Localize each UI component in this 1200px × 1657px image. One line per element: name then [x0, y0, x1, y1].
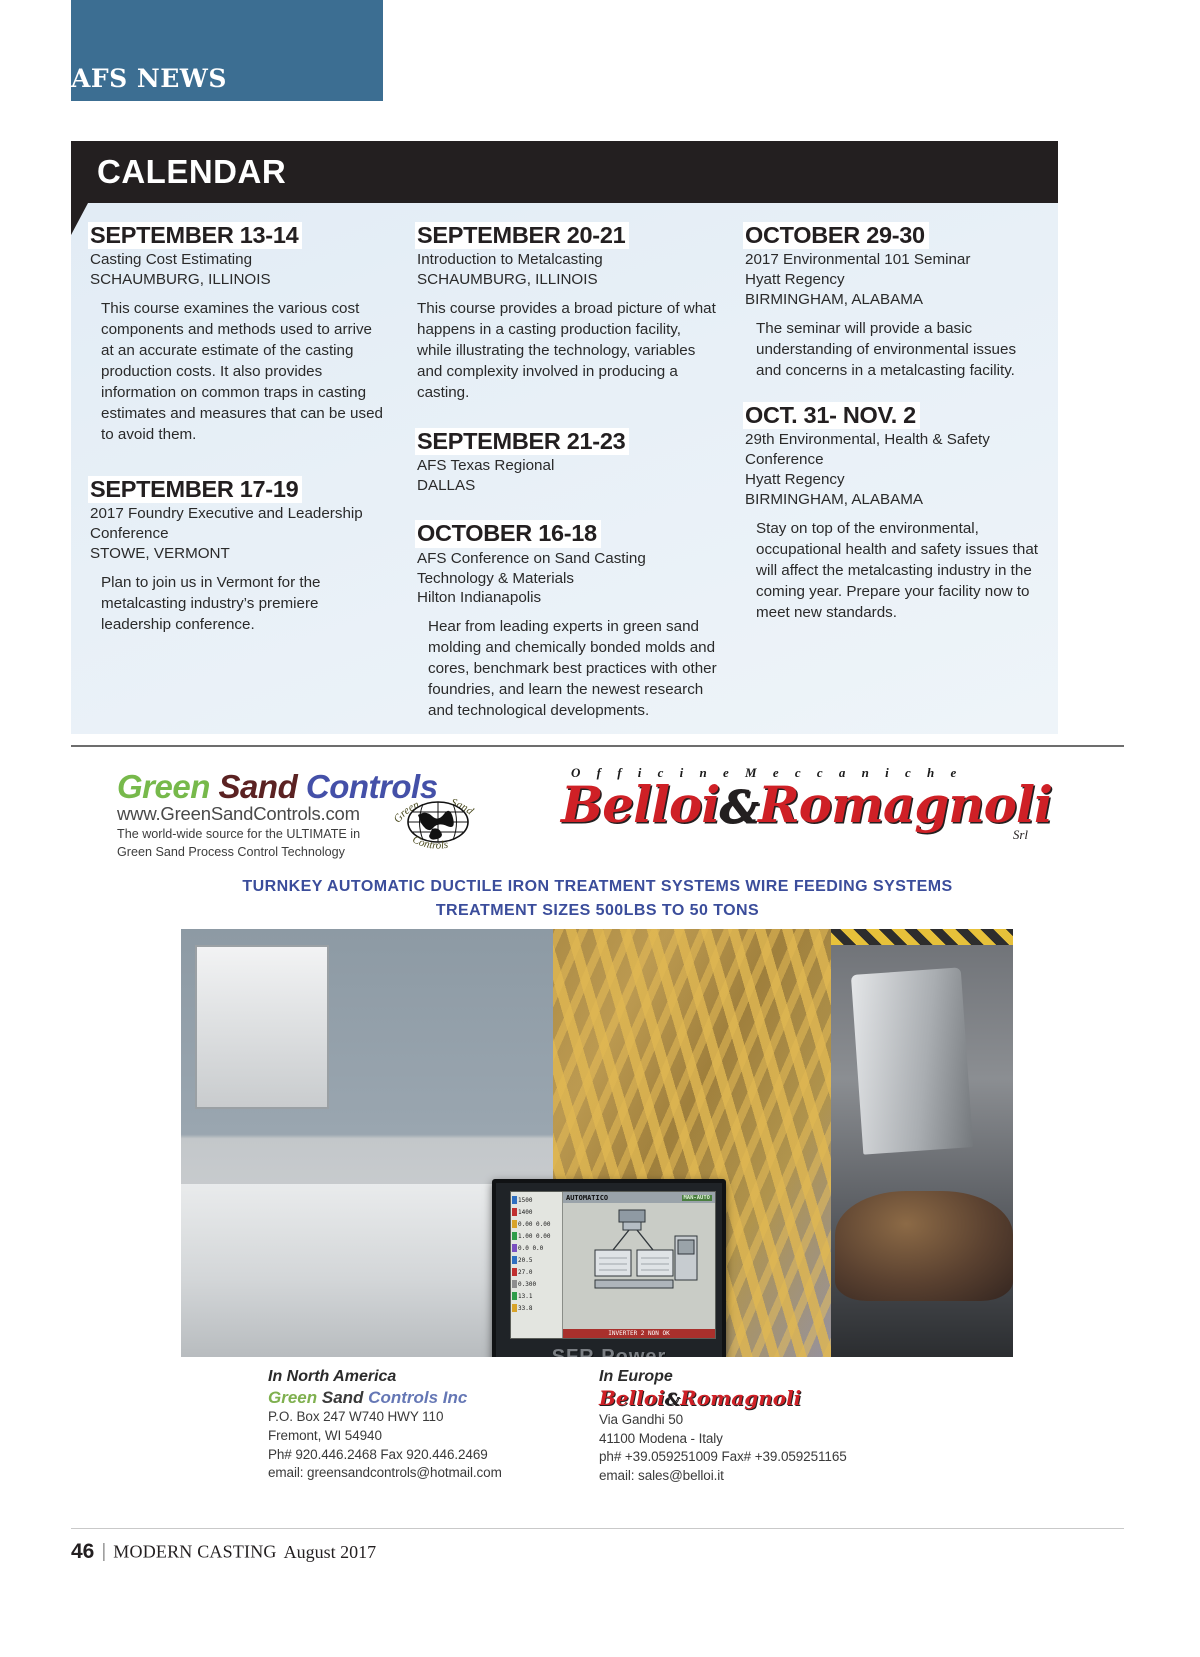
entry-name: 2017 Environmental 101 Seminar: [743, 250, 1044, 270]
br-ampersand: &: [719, 782, 758, 833]
entry-description: The seminar will provide a basic underst…: [743, 319, 1044, 382]
entry-description: Hear from leading experts in green sand …: [415, 617, 717, 722]
issue-date: August 2017: [284, 1542, 377, 1562]
entry-location: DALLAS: [415, 476, 717, 496]
masthead-label: AFS NEWS: [71, 66, 227, 91]
magazine-name: MODERN CASTING: [113, 1542, 276, 1562]
entry-location: Hilton Indianapolis: [415, 588, 717, 608]
contact-region-label: In North America: [268, 1367, 598, 1386]
contact-company-word2: Sand: [322, 1388, 364, 1407]
hmi-process-diagram: [567, 1206, 707, 1302]
contact-region-label: In Europe: [599, 1367, 959, 1386]
belloi-romagnoli-logo: O f f i c i n e M e c c a n i c h e Bell…: [561, 765, 1036, 843]
hmi-readout: 1400: [518, 1209, 532, 1216]
calendar-entry: SEPTEMBER 13-14 Casting Cost Estimating …: [88, 222, 387, 446]
contact-address-1: Via Gandhi 50: [599, 1411, 959, 1430]
contact-company-name: Belloi&Romagnoli: [599, 1387, 959, 1410]
entry-date: SEPTEMBER 21-23: [415, 428, 629, 455]
entry-date: SEPTEMBER 17-19: [88, 476, 302, 503]
entry-name: 29th Environmental, Health & Safety Conf…: [743, 430, 1044, 470]
advertisement: Green Sand Controls www.GreenSandControl…: [71, 747, 1124, 1507]
hmi-readout: 0.0 0.0: [518, 1245, 543, 1252]
calendar-entry: SEPTEMBER 17-19 2017 Foundry Executive a…: [88, 476, 387, 636]
contact-phone: Ph# 920.446.2468 Fax 920.446.2469: [268, 1446, 598, 1465]
contact-address-2: Fremont, WI 54940: [268, 1427, 598, 1446]
entry-date: SEPTEMBER 13-14: [88, 222, 302, 249]
contact-company-belloi: Belloi: [599, 1386, 665, 1410]
hmi-readout: 1.00 0.00: [518, 1233, 551, 1240]
contact-company-ampersand: &: [665, 1390, 680, 1410]
magazine-page: AFS NEWS CALENDAR SEPTEMBER 13-14 Castin…: [0, 0, 1200, 1657]
hmi-graphic-column: AUTOMATICO MAN-AUTO: [563, 1192, 715, 1338]
calendar-entry: SEPTEMBER 20-21 Introduction to Metalcas…: [415, 222, 717, 404]
entry-name: AFS Texas Regional: [415, 456, 717, 476]
hmi-screen: 1500 1400 0.00 0.00 1.00 0.00 0.0 0.0 20…: [510, 1191, 716, 1339]
calendar-column-3: OCTOBER 29-30 2017 Environmental 101 Sem…: [731, 203, 1058, 734]
hmi-readout: 20.5: [518, 1257, 532, 1264]
entry-venue: Hyatt Regency: [743, 270, 1044, 290]
contact-company-word3: Controls Inc: [368, 1388, 467, 1407]
ad-headline: TURNKEY AUTOMATIC DUCTILE IRON TREATMENT…: [71, 875, 1124, 924]
hmi-readout: 1500: [518, 1197, 532, 1204]
contact-company-word1: Green: [268, 1388, 317, 1407]
hazard-stripe: [831, 929, 1013, 945]
entry-name: Casting Cost Estimating: [88, 250, 387, 270]
hmi-readout: 13.1: [518, 1293, 532, 1300]
calendar-title: CALENDAR: [97, 153, 286, 191]
entry-location: BIRMINGHAM, ALABAMA: [743, 290, 1044, 310]
hmi-panel: 1500 1400 0.00 0.00 1.00 0.00 0.0 0.0 20…: [492, 1179, 726, 1357]
ad-headline-line2: TREATMENT SIZES 500LBS TO 50 TONS: [71, 899, 1124, 923]
hmi-status-message: INVERTER 2 NON OK: [563, 1329, 715, 1338]
gsc-word-green: Green: [117, 768, 210, 805]
entry-location: BIRMINGHAM, ALABAMA: [743, 490, 1044, 510]
entry-name: 2017 Foundry Executive and Leadership Co…: [88, 504, 387, 544]
contact-email[interactable]: email: greensandcontrols@hotmail.com: [268, 1464, 598, 1483]
contact-europe: In Europe Belloi&Romagnoli Via Gandhi 50…: [599, 1367, 959, 1485]
contact-company-romagnoli: Romagnoli: [680, 1386, 801, 1410]
contact-north-america: In North America Green Sand Controls Inc…: [268, 1367, 598, 1483]
photo-ladle-treatment: [831, 929, 1013, 1357]
entry-location: SCHAUMBURG, ILLINOIS: [415, 270, 717, 290]
contact-address-2: 41100 Modena - Italy: [599, 1430, 959, 1449]
contact-phone: ph# +39.059251009 Fax# +39.059251165: [599, 1448, 959, 1467]
calendar-entry: SEPTEMBER 21-23 AFS Texas Regional DALLA…: [415, 428, 717, 496]
page-footer: 46|MODERN CASTINGAugust 2017: [71, 1540, 671, 1564]
entry-description: This course provides a broad picture of …: [415, 299, 717, 404]
entry-date: SEPTEMBER 20-21: [415, 222, 629, 249]
calendar-column-2: SEPTEMBER 20-21 Introduction to Metalcas…: [401, 203, 731, 734]
gsc-word-sand: Sand: [219, 768, 298, 805]
hmi-readout: 0.300: [518, 1281, 536, 1288]
br-name-belloi: Belloi: [561, 775, 719, 834]
globe-icon: Green Sand Controls: [388, 785, 488, 857]
entry-date: OCTOBER 29-30: [743, 222, 929, 249]
entry-location: SCHAUMBURG, ILLINOIS: [88, 270, 387, 290]
entry-location: STOWE, VERMONT: [88, 544, 387, 564]
hmi-mode-title: AUTOMATICO: [566, 1194, 608, 1202]
contact-company-name: Green Sand Controls Inc: [268, 1387, 598, 1408]
br-name-romagnoli: Romagnoli: [758, 775, 1052, 834]
hmi-brand-label: SFR Power: [496, 1346, 722, 1357]
hmi-readout: 33.8: [518, 1305, 532, 1312]
br-wordmark: Belloi&Romagnoli: [561, 779, 1036, 831]
ad-headline-line1: TURNKEY AUTOMATIC DUCTILE IRON TREATMENT…: [71, 875, 1124, 899]
entry-name: Introduction to Metalcasting: [415, 250, 717, 270]
calendar-entry: OCTOBER 16-18 AFS Conference on Sand Cas…: [415, 520, 717, 722]
hmi-readout: 0.00 0.00: [518, 1221, 551, 1228]
entry-description: Stay on top of the environmental, occupa…: [743, 519, 1044, 624]
photo-hmi-console: [219, 1219, 434, 1285]
contact-address-1: P.O. Box 247 W740 HWY 110: [268, 1408, 598, 1427]
ad-photo-collage: 1500 1400 0.00 0.00 1.00 0.00 0.0 0.0 20…: [181, 929, 1013, 1357]
hmi-readout: 27.0: [518, 1269, 532, 1276]
hmi-title-bar: AUTOMATICO MAN-AUTO: [563, 1192, 715, 1203]
calendar-column-1: SEPTEMBER 13-14 Casting Cost Estimating …: [71, 203, 401, 734]
calendar-columns: SEPTEMBER 13-14 Casting Cost Estimating …: [71, 203, 1058, 734]
hmi-mode-badge: MAN-AUTO: [682, 1195, 713, 1201]
entry-description: This course examines the various cost co…: [88, 299, 387, 446]
entry-description: Plan to join us in Vermont for the metal…: [88, 573, 387, 636]
calendar-entry: OCT. 31- NOV. 2 29th Environmental, Heal…: [743, 402, 1044, 624]
hmi-readout-column: 1500 1400 0.00 0.00 1.00 0.00 0.0 0.0 20…: [511, 1192, 563, 1338]
page-number: 46: [71, 1540, 94, 1563]
footer-divider: [71, 1528, 1124, 1529]
entry-date: OCTOBER 16-18: [415, 520, 601, 547]
contact-email[interactable]: email: sales@belloi.it: [599, 1467, 959, 1486]
calendar-header-bar: CALENDAR: [71, 141, 1058, 203]
entry-date: OCT. 31- NOV. 2: [743, 402, 920, 429]
footer-separator: |: [101, 1541, 106, 1562]
entry-venue: Hyatt Regency: [743, 470, 1044, 490]
calendar-entry: OCTOBER 29-30 2017 Environmental 101 Sem…: [743, 222, 1044, 382]
entry-name: AFS Conference on Sand Casting Technolog…: [415, 549, 717, 589]
